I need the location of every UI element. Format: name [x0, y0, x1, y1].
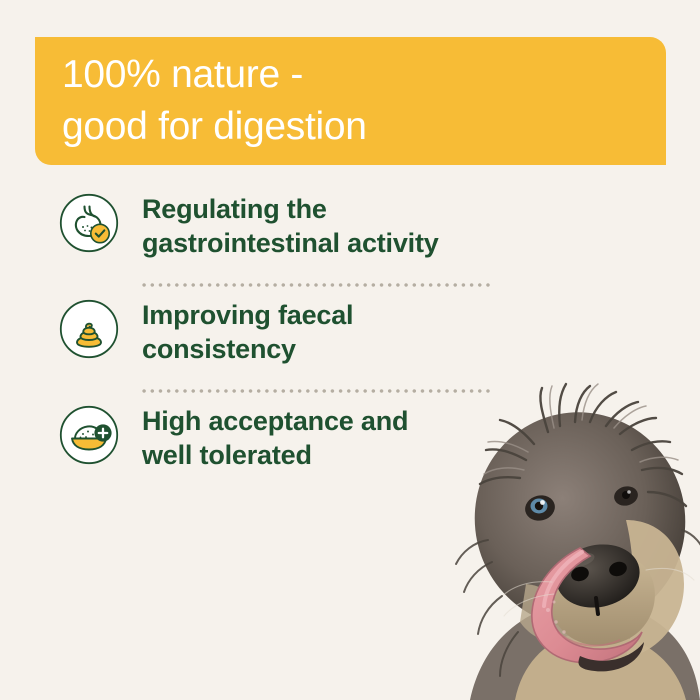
- divider: [140, 384, 491, 398]
- divider: [140, 278, 491, 292]
- food-bowl-plus-icon: [59, 405, 119, 465]
- benefit-text: Improving faecal consistency: [142, 292, 353, 366]
- benefit-row: High acceptance and well tolerated: [0, 398, 700, 490]
- stomach-check-icon: [59, 193, 119, 253]
- page-title: 100% nature - good for digestion: [62, 49, 642, 153]
- benefit-row: Improving faecal consistency: [0, 292, 700, 384]
- infographic-card: 100% nature - good for digestion: [0, 0, 700, 700]
- benefit-text: Regulating the gastrointestinal activity: [142, 186, 439, 260]
- header-banner: 100% nature - good for digestion: [35, 37, 666, 165]
- benefit-text: High acceptance and well tolerated: [142, 398, 408, 472]
- benefit-row: Regulating the gastrointestinal activity: [0, 186, 700, 278]
- stool-icon: [59, 299, 119, 359]
- benefits-list: Regulating the gastrointestinal activity…: [0, 186, 700, 490]
